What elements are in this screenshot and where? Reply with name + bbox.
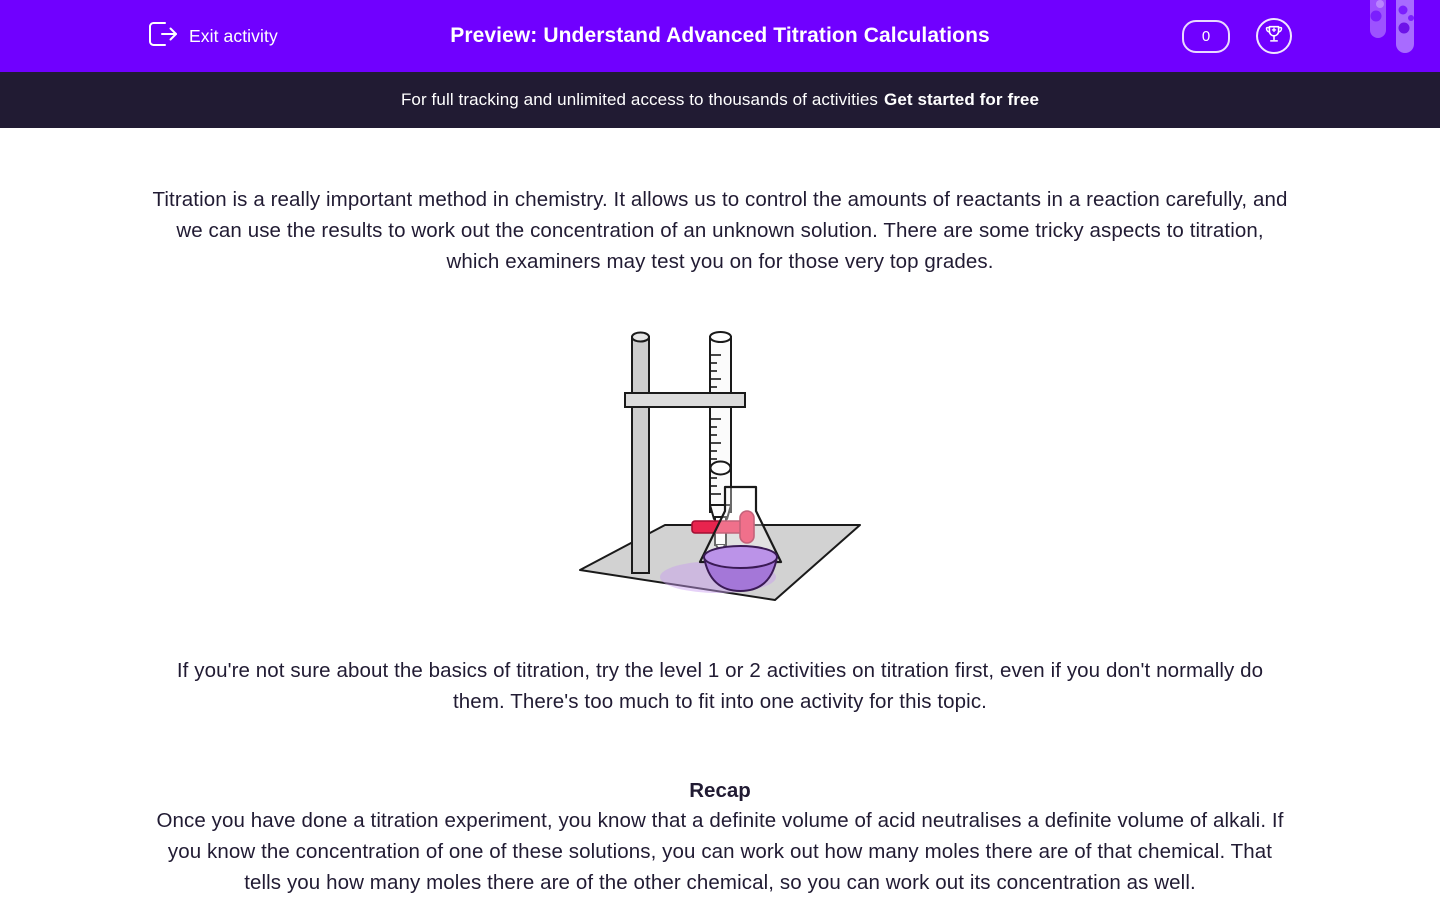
- activity-content: Titration is a really important method i…: [0, 128, 1440, 898]
- intro-paragraph: Titration is a really important method i…: [150, 128, 1290, 277]
- test-tubes-icon: [1358, 0, 1428, 72]
- logout-icon: [148, 21, 178, 52]
- exit-activity-label: Exit activity: [189, 26, 278, 47]
- promo-banner: For full tracking and unlimited access t…: [0, 72, 1440, 128]
- points-value: 0: [1202, 28, 1210, 45]
- top-header-bar: Exit activity Preview: Understand Advanc…: [0, 0, 1440, 72]
- recap-heading: Recap: [0, 779, 1440, 803]
- points-counter[interactable]: 0: [1182, 20, 1230, 53]
- trophy-icon: [1263, 23, 1285, 50]
- get-started-link[interactable]: Get started for free: [884, 90, 1039, 110]
- promo-message: For full tracking and unlimited access t…: [401, 90, 878, 110]
- retort-stand: [632, 337, 649, 573]
- illustration-container: [0, 315, 1440, 615]
- titration-apparatus-illustration: [570, 315, 870, 615]
- achievements-button[interactable]: [1256, 18, 1292, 54]
- second-paragraph: If you're not sure about the basics of t…: [150, 655, 1290, 717]
- header-actions: 0: [1182, 0, 1292, 72]
- exit-activity-button[interactable]: Exit activity: [148, 0, 278, 72]
- recap-paragraph: Once you have done a titration experimen…: [150, 805, 1290, 898]
- recap-section: Recap Once you have done a titration exp…: [0, 779, 1440, 898]
- clamp-bar: [625, 393, 745, 407]
